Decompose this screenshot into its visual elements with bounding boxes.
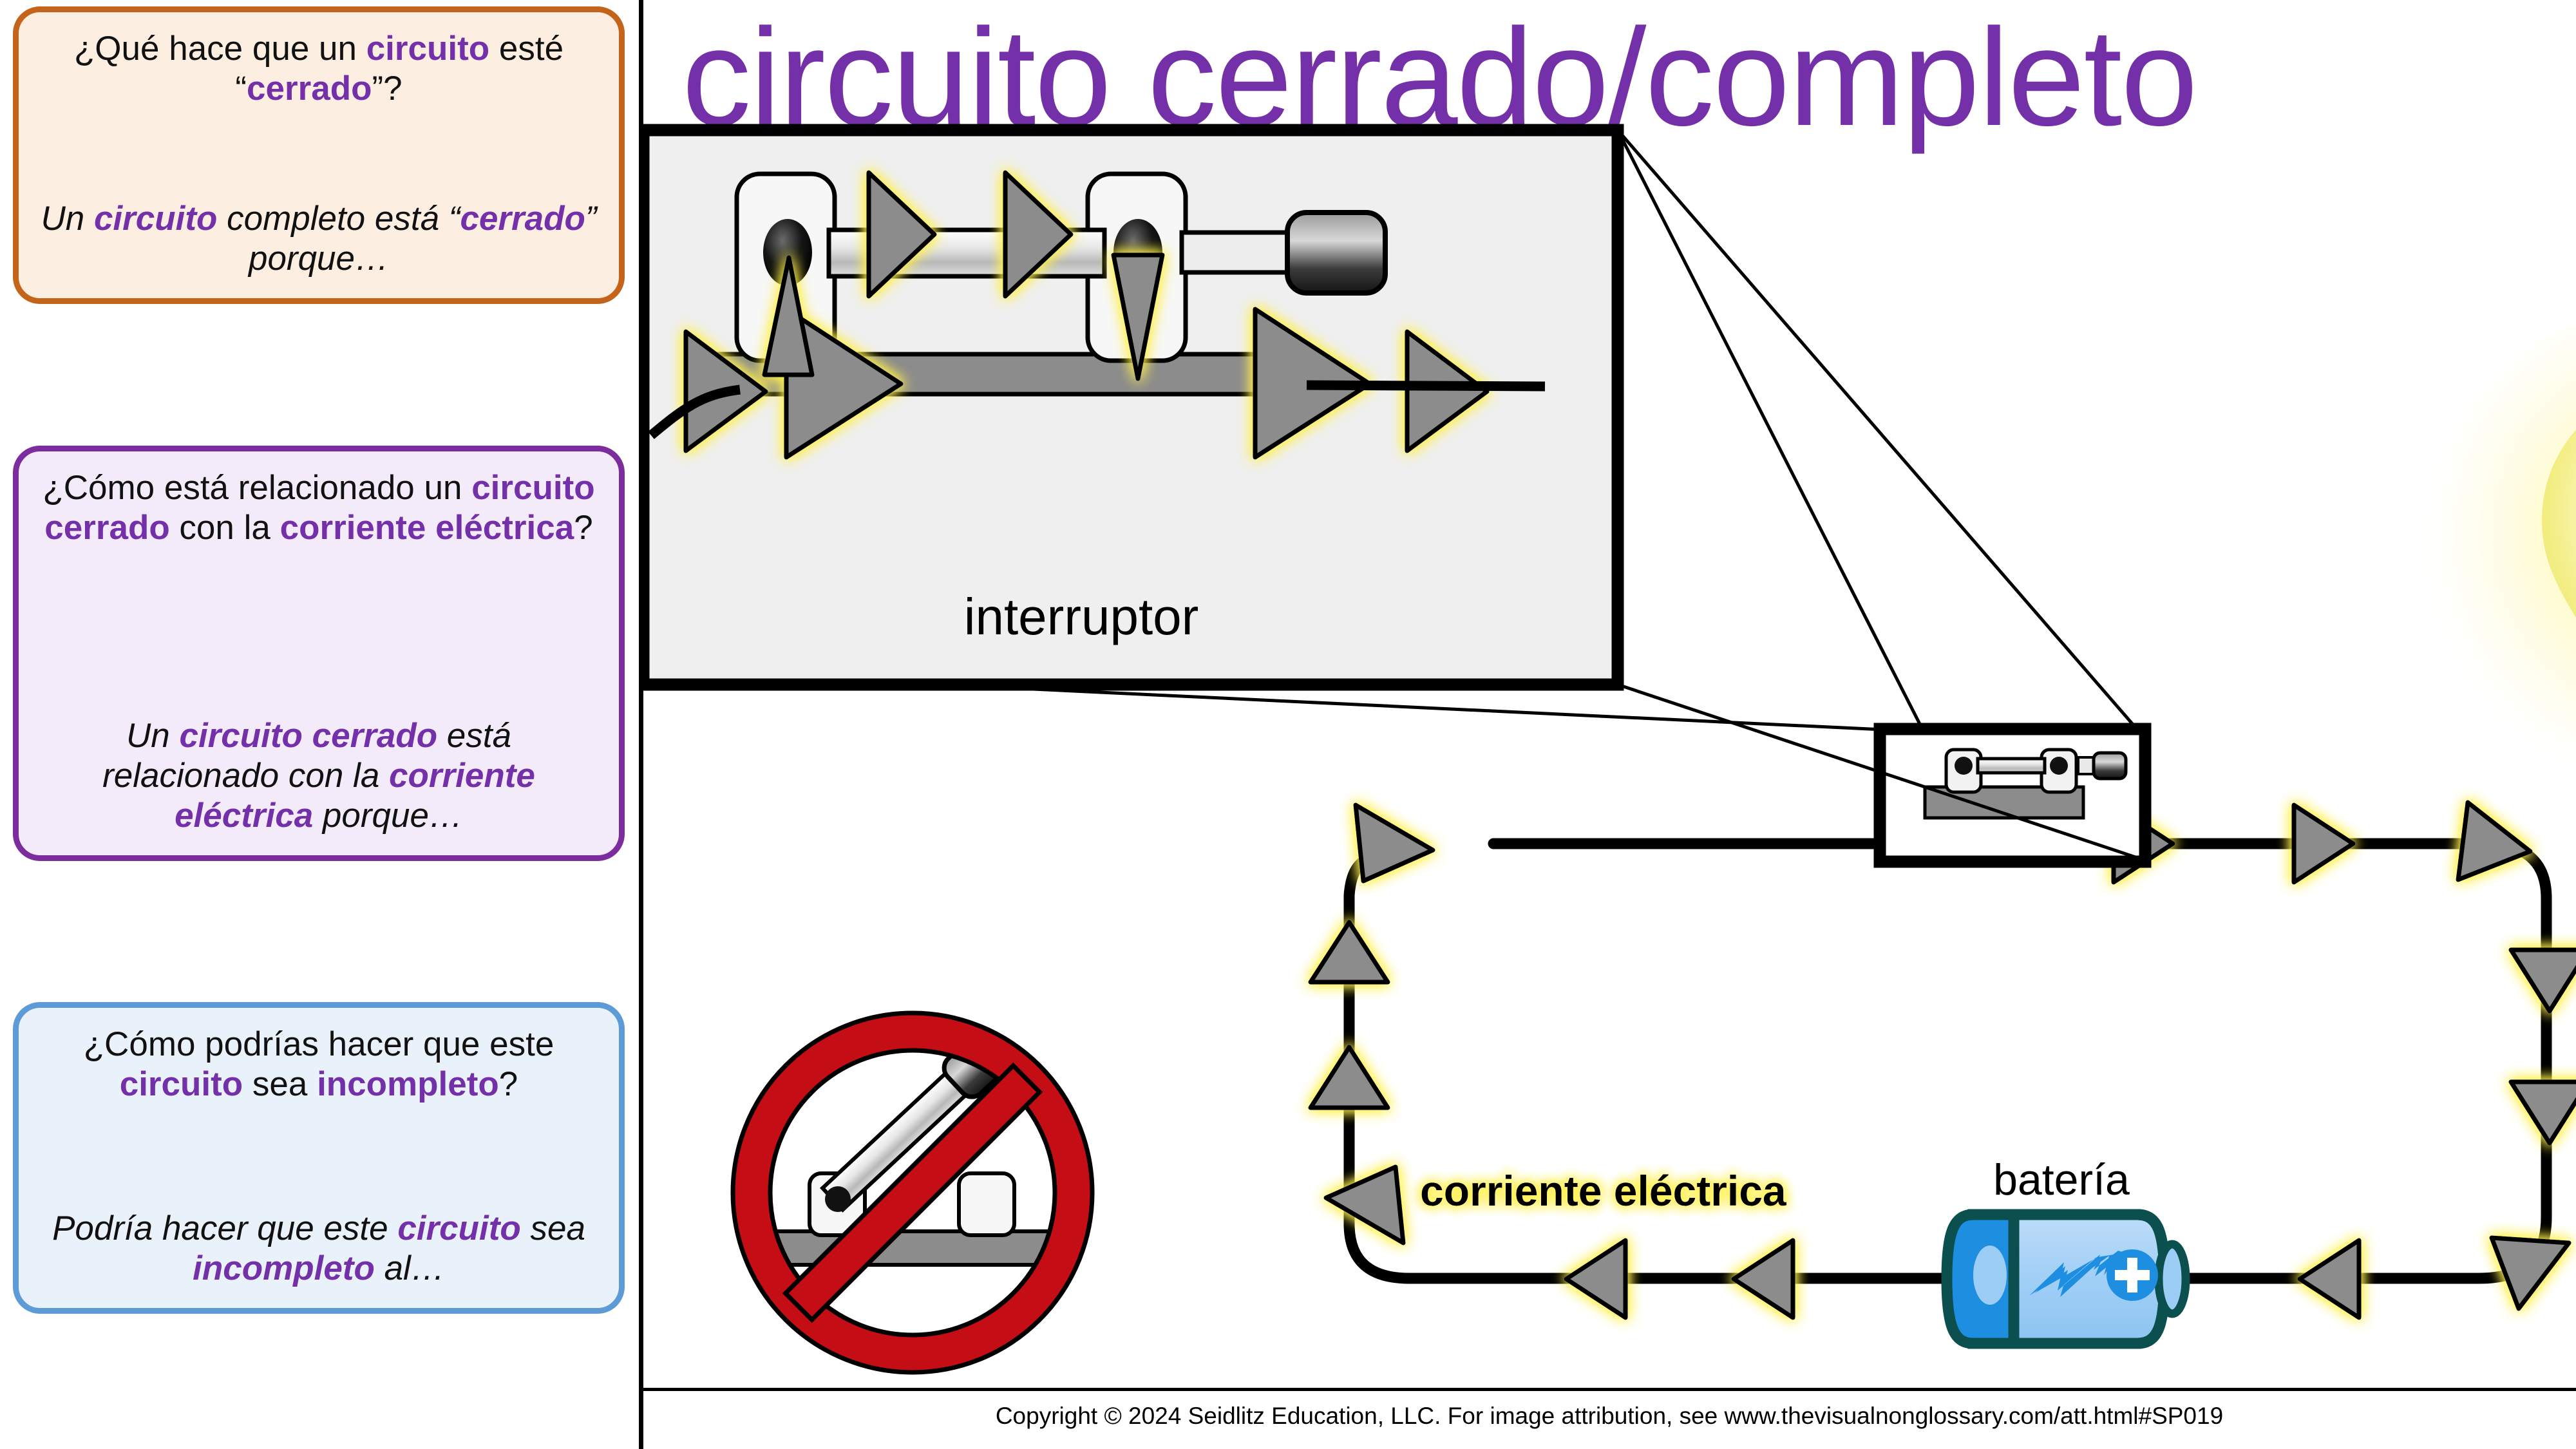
- current-arrow-left-3: [1566, 1240, 1625, 1318]
- footer-divider: [643, 1388, 2576, 1391]
- keyword-term: cerrado: [247, 70, 372, 108]
- text-run: con la: [170, 509, 280, 547]
- question-prompt: ¿Cómo está relacionado un circuito cerra…: [41, 468, 597, 548]
- text-run: ”?: [372, 70, 402, 108]
- text-run: Un: [126, 717, 179, 755]
- sentence-stem: Podría hacer que este circuito sea incom…: [41, 1209, 597, 1289]
- keyword-term: circuito: [366, 30, 489, 68]
- sentence-stem: Un circuito cerrado está relacionado con…: [41, 716, 597, 836]
- text-run: Un: [41, 200, 93, 238]
- battery: batería: [1947, 1155, 2186, 1343]
- column-divider: [639, 0, 643, 1449]
- current-arrow-corner-bl: [1326, 1167, 1403, 1243]
- keyword-term: circuito: [94, 200, 217, 238]
- current-arrow-left-1: [2300, 1240, 2359, 1318]
- keyword-term: circuito cerrado: [179, 717, 437, 755]
- keyword-term: corriente eléctrica: [280, 509, 574, 547]
- worksheet-page: ¿Qué hace que un circuito esté “cerrado”…: [0, 0, 2576, 1449]
- current-arrow-up-1: [1311, 1047, 1388, 1108]
- text-run: sea: [243, 1065, 317, 1103]
- question-prompt: ¿Cómo podrías hacer que este circuito se…: [41, 1025, 597, 1104]
- text-run: al…: [375, 1249, 445, 1287]
- keyword-term: circuito: [120, 1065, 243, 1103]
- current-arrow-corner-tr: [2458, 802, 2530, 880]
- current-arrow-down-1: [2511, 950, 2576, 1011]
- current-arrow-corner-br: [2492, 1238, 2569, 1309]
- current-arrow-group: [1311, 802, 2576, 1318]
- switch-knob: [1287, 213, 1385, 293]
- keyword-term: cerrado: [460, 200, 585, 238]
- text-run: ?: [574, 509, 592, 547]
- callout-label: interruptor: [964, 588, 1199, 645]
- battery-minus-oval: [1973, 1245, 2007, 1305]
- circuit-diagram: interruptor: [643, 0, 2576, 1449]
- text-run: Podría hacer que este: [52, 1209, 397, 1247]
- current-arrow-left-2: [1734, 1240, 1793, 1318]
- current-arrow-corner-tl: [1356, 805, 1433, 881]
- text-run: completo está “: [217, 200, 460, 238]
- question-prompt: ¿Qué hace que un circuito esté “cerrado”…: [41, 29, 597, 109]
- diagram-panel: circuito cerrado/completo: [643, 0, 2576, 1449]
- battery-terminal-nub: [2159, 1244, 2186, 1314]
- keyword-term: incompleto: [193, 1249, 375, 1287]
- keyword-term: incompleto: [317, 1065, 499, 1103]
- text-run: porque…: [313, 797, 463, 835]
- battery-label: batería: [1993, 1155, 2130, 1204]
- text-run: ¿Cómo podrías hacer que este: [84, 1025, 554, 1063]
- text-run: sea: [521, 1209, 585, 1247]
- current-arrow-right-2: [2294, 805, 2353, 882]
- question-card-make-incomplete[interactable]: ¿Cómo podrías hacer que este circuito se…: [13, 1002, 625, 1314]
- current-label-group: corriente eléctrica: [1420, 1167, 1787, 1215]
- current-arrow-down-2: [2511, 1082, 2576, 1143]
- sentence-stem: Un circuito completo está “cerrado” porq…: [41, 199, 597, 279]
- text-run: ¿Qué hace que un: [74, 30, 366, 68]
- prohibited-open-switch: [733, 1013, 1092, 1372]
- question-card-closed-circuit[interactable]: ¿Qué hace que un circuito esté “cerrado”…: [13, 6, 625, 304]
- keyword-term: circuito: [397, 1209, 520, 1247]
- question-card-column: ¿Qué hace que un circuito esté “cerrado”…: [0, 0, 641, 1449]
- current-arrow-up-2: [1311, 922, 1388, 982]
- question-card-current-relation[interactable]: ¿Cómo está relacionado un circuito cerra…: [13, 446, 625, 861]
- current-label: corriente eléctrica: [1420, 1167, 1787, 1215]
- text-run: ¿Cómo está relacionado un: [43, 469, 471, 507]
- text-run: ?: [499, 1065, 518, 1103]
- light-bulb: [2420, 303, 2576, 860]
- copyright-footer: Copyright © 2024 Seidlitz Education, LLC…: [656, 1403, 2562, 1430]
- inline-switch-box: [1880, 729, 2145, 862]
- prohibition-sign: [733, 1013, 1092, 1372]
- switch-callout-box: interruptor: [643, 130, 1618, 685]
